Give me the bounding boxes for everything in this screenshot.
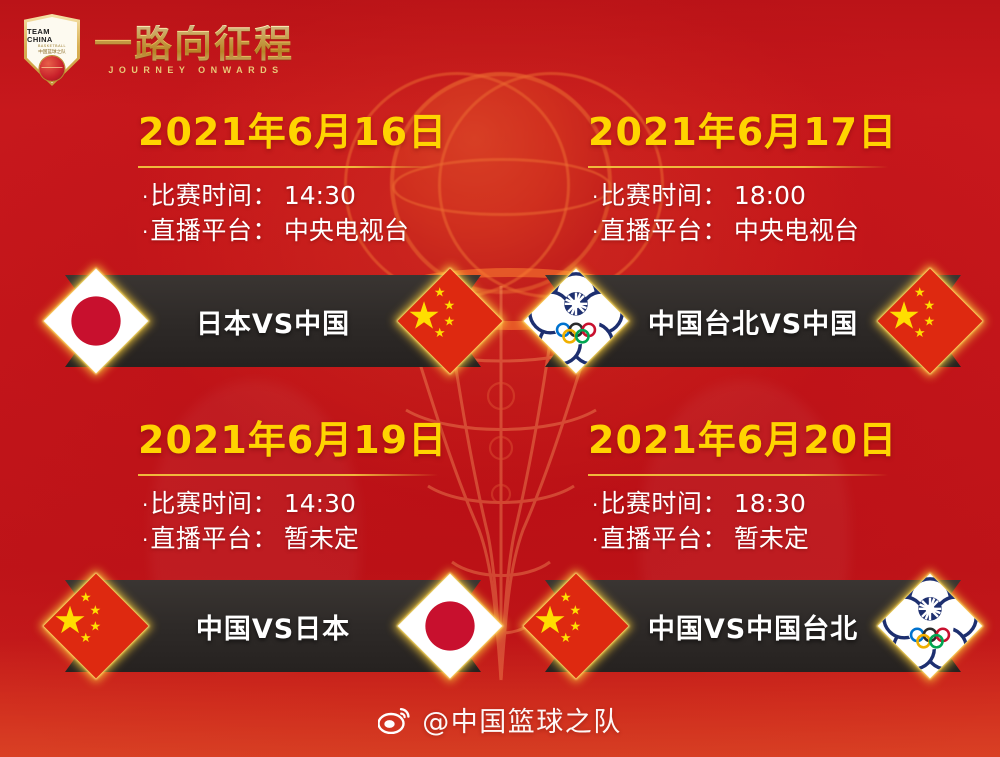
time-label: 比赛时间：	[150, 178, 278, 214]
divider	[588, 166, 888, 168]
match-time-line: · 比赛时间： 14:30	[142, 178, 520, 214]
match-details: · 比赛时间： 14:30 · 直播平台： 暂未定	[60, 486, 520, 557]
match-broadcast-line: · 直播平台： 中央电视台	[592, 213, 1000, 249]
time-value: 14:30	[284, 486, 356, 522]
crest-sub-line: BASKETBALL	[38, 45, 66, 49]
crest-basketball-icon	[40, 56, 65, 81]
versus-banner: ★ ★ ★ ★ ★ 中国VS中国台北	[545, 580, 961, 672]
bullet-icon: ·	[592, 491, 598, 519]
bullet-icon: ·	[142, 218, 148, 246]
china-small-star: ★	[924, 300, 936, 313]
match-broadcast-line: · 直播平台： 中央电视台	[142, 213, 520, 249]
poster-root: TEAM CHINA BASKETBALL 中国篮球之队 一路向征程 JOURN…	[0, 0, 1000, 757]
match-time-line: · 比赛时间： 18:00	[592, 178, 1000, 214]
time-label: 比赛时间：	[600, 178, 728, 214]
japan-sun-disc	[71, 296, 120, 345]
crest-cn-line: 中国篮球之队	[38, 50, 66, 55]
match-date: 2021年6月19日	[60, 420, 520, 462]
broadcast-label: 直播平台：	[150, 213, 278, 249]
time-value: 14:30	[284, 178, 356, 214]
match-card: 2021年6月20日 · 比赛时间： 18:30 · 直播平台： 暂未定	[540, 420, 1000, 557]
broadcast-label: 直播平台：	[150, 521, 278, 557]
team-china-crest-icon: TEAM CHINA BASKETBALL 中国篮球之队	[24, 14, 80, 86]
time-value: 18:00	[734, 178, 806, 214]
china-small-star: ★	[444, 300, 456, 313]
crest-team-line: TEAM CHINA	[27, 28, 77, 43]
match-card: 2021年6月16日 · 比赛时间： 14:30 · 直播平台： 中央电视台	[60, 112, 520, 249]
match-date: 2021年6月16日	[60, 112, 520, 154]
versus-banner: ★ ★ ★ ★ ★ 中国VS日本	[65, 580, 481, 672]
wordmark-chinese: 一路向征程	[94, 25, 294, 63]
broadcast-label: 直播平台：	[600, 521, 728, 557]
match-details: · 比赛时间： 18:30 · 直播平台： 暂未定	[540, 486, 1000, 557]
broadcast-value: 中央电视台	[284, 213, 409, 249]
china-small-star: ★	[90, 605, 102, 618]
wordmark-english: JOURNEY ONWARDS	[94, 65, 294, 75]
match-details: · 比赛时间： 18:00 · 直播平台： 中央电视台	[540, 178, 1000, 249]
match-card: 2021年6月17日 · 比赛时间： 18:00 · 直播平台： 中央电视台	[540, 112, 1000, 249]
bullet-icon: ·	[142, 526, 148, 554]
match-details: · 比赛时间： 14:30 · 直播平台： 中央电视台	[60, 178, 520, 249]
divider	[588, 474, 888, 476]
broadcast-value: 暂未定	[734, 521, 809, 557]
match-date: 2021年6月17日	[540, 112, 1000, 154]
match-broadcast-line: · 直播平台： 暂未定	[592, 521, 1000, 557]
time-label: 比赛时间：	[150, 486, 278, 522]
divider	[138, 166, 438, 168]
broadcast-value: 暂未定	[284, 521, 359, 557]
weibo-handle: @中国篮球之队	[422, 700, 622, 739]
header: TEAM CHINA BASKETBALL 中国篮球之队 一路向征程 JOURN…	[24, 14, 294, 86]
match-time-line: · 比赛时间： 14:30	[142, 486, 520, 522]
japan-sun-disc	[425, 601, 474, 650]
bullet-icon: ·	[592, 218, 598, 246]
china-small-star: ★	[560, 632, 572, 645]
china-small-star: ★	[570, 605, 582, 618]
bullet-icon: ·	[142, 491, 148, 519]
bullet-icon: ·	[142, 183, 148, 211]
broadcast-label: 直播平台：	[600, 213, 728, 249]
time-value: 18:30	[734, 486, 806, 522]
match-broadcast-line: · 直播平台： 暂未定	[142, 521, 520, 557]
versus-banner: 日本VS中国 ★ ★ ★ ★ ★	[65, 275, 481, 367]
versus-banner: 中国台北VS中国 ★ ★ ★ ★ ★	[545, 275, 961, 367]
match-time-line: · 比赛时间： 18:30	[592, 486, 1000, 522]
bullet-icon: ·	[592, 183, 598, 211]
match-date: 2021年6月20日	[540, 420, 1000, 462]
time-label: 比赛时间：	[600, 486, 728, 522]
weibo-icon	[378, 706, 412, 734]
broadcast-value: 中央电视台	[734, 213, 859, 249]
match-card: 2021年6月19日 · 比赛时间： 14:30 · 直播平台： 暂未定	[60, 420, 520, 557]
bullet-icon: ·	[592, 526, 598, 554]
footer-watermark: @中国篮球之队	[0, 700, 1000, 739]
china-small-star: ★	[914, 327, 926, 340]
china-small-star: ★	[434, 327, 446, 340]
divider	[138, 474, 438, 476]
wordmark: 一路向征程 JOURNEY ONWARDS	[94, 25, 294, 75]
weibo-glyph	[378, 706, 412, 734]
china-small-star: ★	[80, 632, 92, 645]
